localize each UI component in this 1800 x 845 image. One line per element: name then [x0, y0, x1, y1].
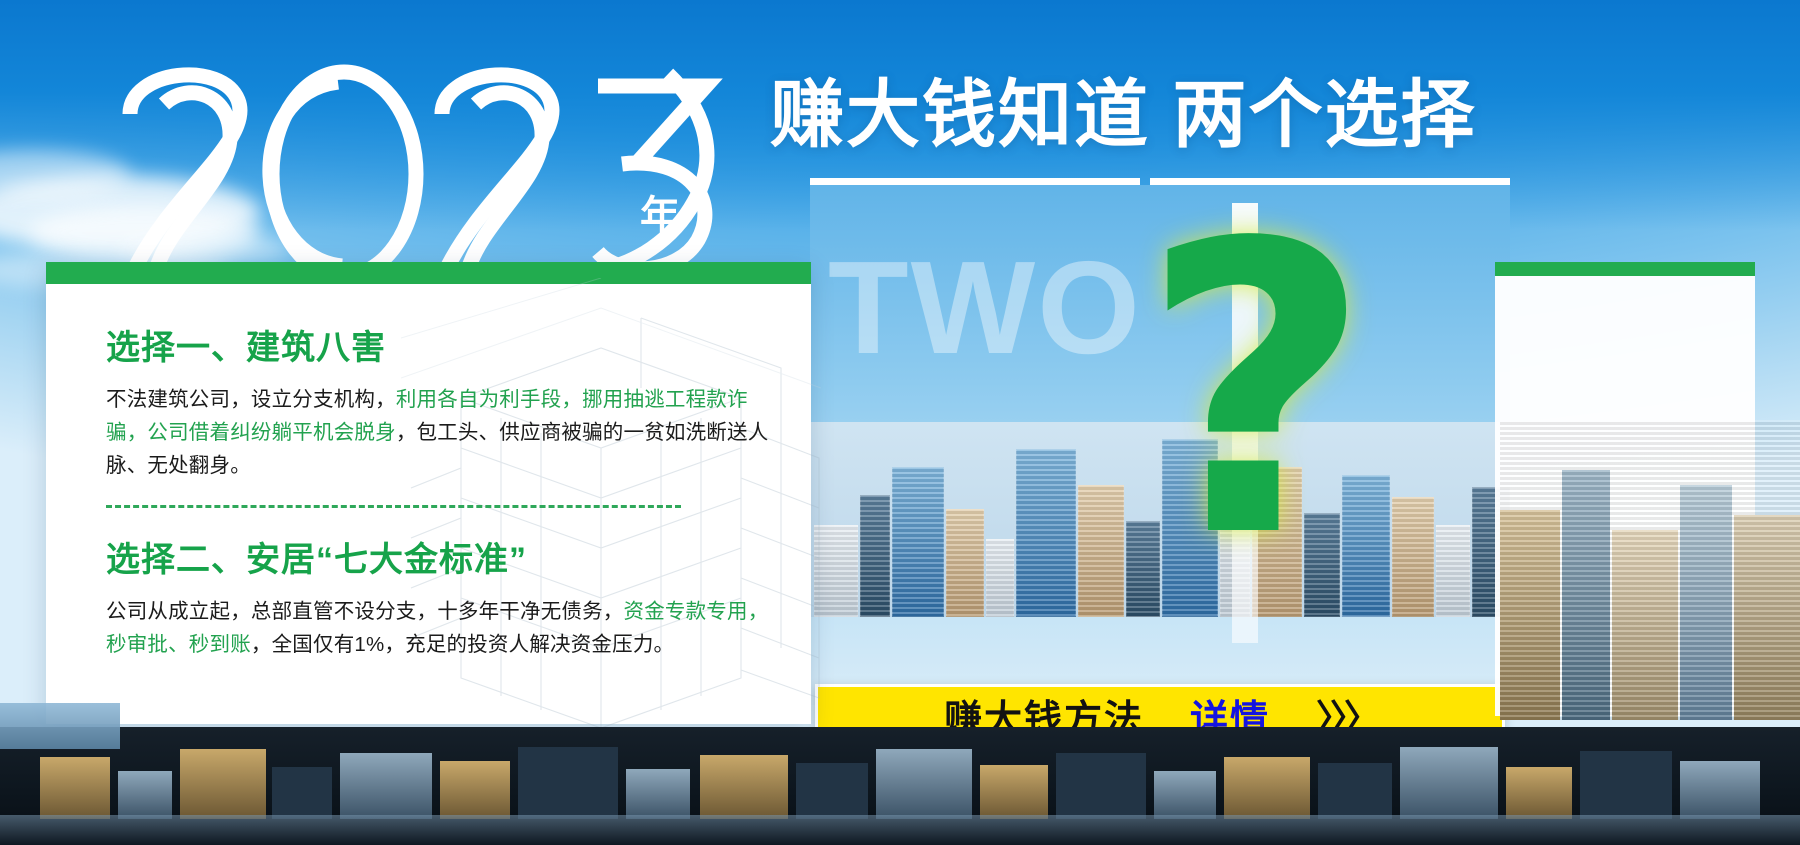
right-accent-bar: [1495, 262, 1755, 276]
right-visual-panel: TWO CHOICES ?: [810, 185, 1510, 705]
water-reflection: [0, 815, 1800, 845]
section-1-title: 选择一、建筑八害: [106, 320, 777, 369]
section-2-title: 选择二、安居“七大金标准”: [106, 532, 777, 581]
year-suffix-label: 年: [640, 196, 681, 236]
body-text-run: ，全国仅有1%，充足的投资人解决资金压力。: [251, 633, 674, 656]
body-text-run: 不法建筑公司，设立分支机构，: [106, 388, 396, 411]
section-1-body: 不法建筑公司，设立分支机构，利用各自为利手段，挪用抽逃工程款诈骗，公司借着纠纷躺…: [106, 383, 777, 483]
content-card: 选择一、建筑八害 不法建筑公司，设立分支机构，利用各自为利手段，挪用抽逃工程款诈…: [46, 262, 811, 724]
underline-segment: [810, 178, 1140, 185]
card-accent-bar: [46, 262, 811, 284]
page-title: 赚大钱知道 两个选择: [770, 78, 1477, 152]
banner-stage: 年 赚大钱知道 两个选择 TWO CHOICES: [0, 0, 1800, 845]
section-divider: [106, 505, 681, 508]
underline-segment: [1150, 178, 1510, 185]
body-text-run: 公司从成立起，总部直管不设分支，十多年干净无债务，: [106, 600, 624, 623]
right-edge-cityscape: [1500, 420, 1800, 720]
section-2-body: 公司从成立起，总部直管不设分支，十多年干净无债务，资金专款专用，秒审批、秒到账，…: [106, 595, 777, 661]
watermark-line-1: TWO: [828, 234, 1142, 381]
card-body: 选择一、建筑八害 不法建筑公司，设立分支机构，利用各自为利手段，挪用抽逃工程款诈…: [46, 284, 811, 724]
question-mark-icon: ?: [1140, 193, 1372, 593]
headline-underline: [810, 178, 1510, 185]
left-bridge-element: [0, 703, 120, 749]
bottom-photo-strip: [0, 727, 1800, 845]
